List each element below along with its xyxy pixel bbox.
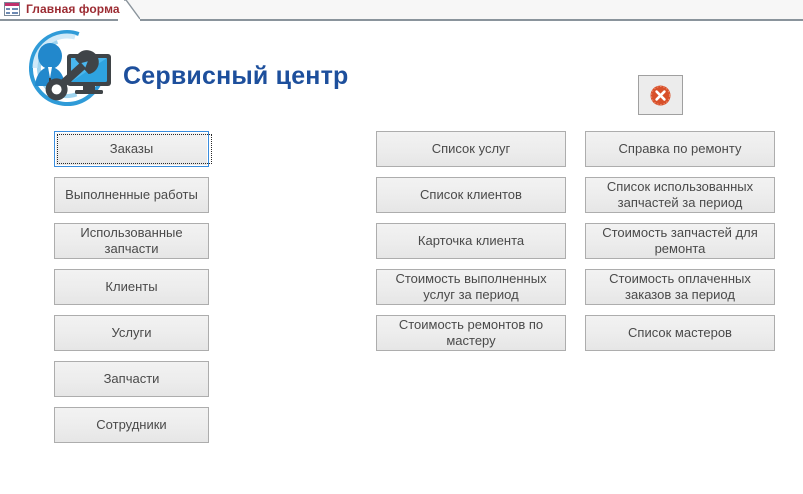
button-label: Стоимость оплаченных заказов за период — [590, 271, 770, 303]
button-spisok-klientov[interactable]: Список клиентов — [376, 177, 566, 213]
button-spisok-masterov[interactable]: Список мастеров — [585, 315, 775, 351]
button-label: Список услуг — [381, 141, 561, 157]
button-spravka-po-remontu[interactable]: Справка по ремонту — [585, 131, 775, 167]
form-header: Сервисный центр — [0, 21, 803, 121]
button-vypolnennye-raboty[interactable]: Выполненные работы — [54, 177, 209, 213]
button-label: Стоимость ремонтов по мастеру — [381, 317, 561, 349]
button-zapchasti[interactable]: Запчасти — [54, 361, 209, 397]
button-sotrudniki[interactable]: Сотрудники — [54, 407, 209, 443]
button-stoimost-remontov-po-masteru[interactable]: Стоимость ремонтов по мастеру — [376, 315, 566, 351]
close-button[interactable] — [638, 75, 683, 115]
service-center-logo — [15, 28, 119, 108]
close-circle-icon — [650, 85, 671, 106]
button-label: Стоимость запчастей для ремонта — [590, 225, 770, 257]
button-label: Карточка клиента — [381, 233, 561, 249]
button-stoimost-oplachennyh-zakazov-za-period[interactable]: Стоимость оплаченных заказов за период — [585, 269, 775, 305]
button-label: Выполненные работы — [59, 187, 204, 203]
button-label: Список использованных запчастей за перио… — [590, 179, 770, 211]
button-label: Список мастеров — [590, 325, 770, 341]
tab-label: Главная форма — [26, 2, 120, 16]
button-label: Стоимость выполненных услуг за период — [381, 271, 561, 303]
button-label: Сотрудники — [59, 417, 204, 433]
button-label: Использованные запчасти — [59, 225, 204, 257]
button-kartochka-klienta[interactable]: Карточка клиента — [376, 223, 566, 259]
button-label: Заказы — [59, 141, 204, 157]
button-label: Клиенты — [59, 279, 204, 295]
button-klienty[interactable]: Клиенты — [54, 269, 209, 305]
button-label: Справка по ремонту — [590, 141, 770, 157]
button-zakazy[interactable]: Заказы — [54, 131, 209, 167]
button-stoimost-zapchastey-dlya-remonta[interactable]: Стоимость запчастей для ремонта — [585, 223, 775, 259]
page-title: Сервисный центр — [123, 62, 349, 91]
button-spisok-ispolzovannyh-zapchastey-za-period[interactable]: Список использованных запчастей за перио… — [585, 177, 775, 213]
button-label: Запчасти — [59, 371, 204, 387]
button-stoimost-vypolnennyh-uslug-za-period[interactable]: Стоимость выполненных услуг за период — [376, 269, 566, 305]
button-label: Список клиентов — [381, 187, 561, 203]
form-datasheet-icon — [4, 2, 20, 16]
button-uslugi[interactable]: Услуги — [54, 315, 209, 351]
button-label: Услуги — [59, 325, 204, 341]
tab-glavnaya-forma[interactable]: Главная форма — [0, 0, 124, 19]
document-tab-bar: Главная форма — [0, 0, 803, 21]
button-spisok-uslug[interactable]: Список услуг — [376, 131, 566, 167]
button-ispolzovannye-zapchasti[interactable]: Использованные запчасти — [54, 223, 209, 259]
